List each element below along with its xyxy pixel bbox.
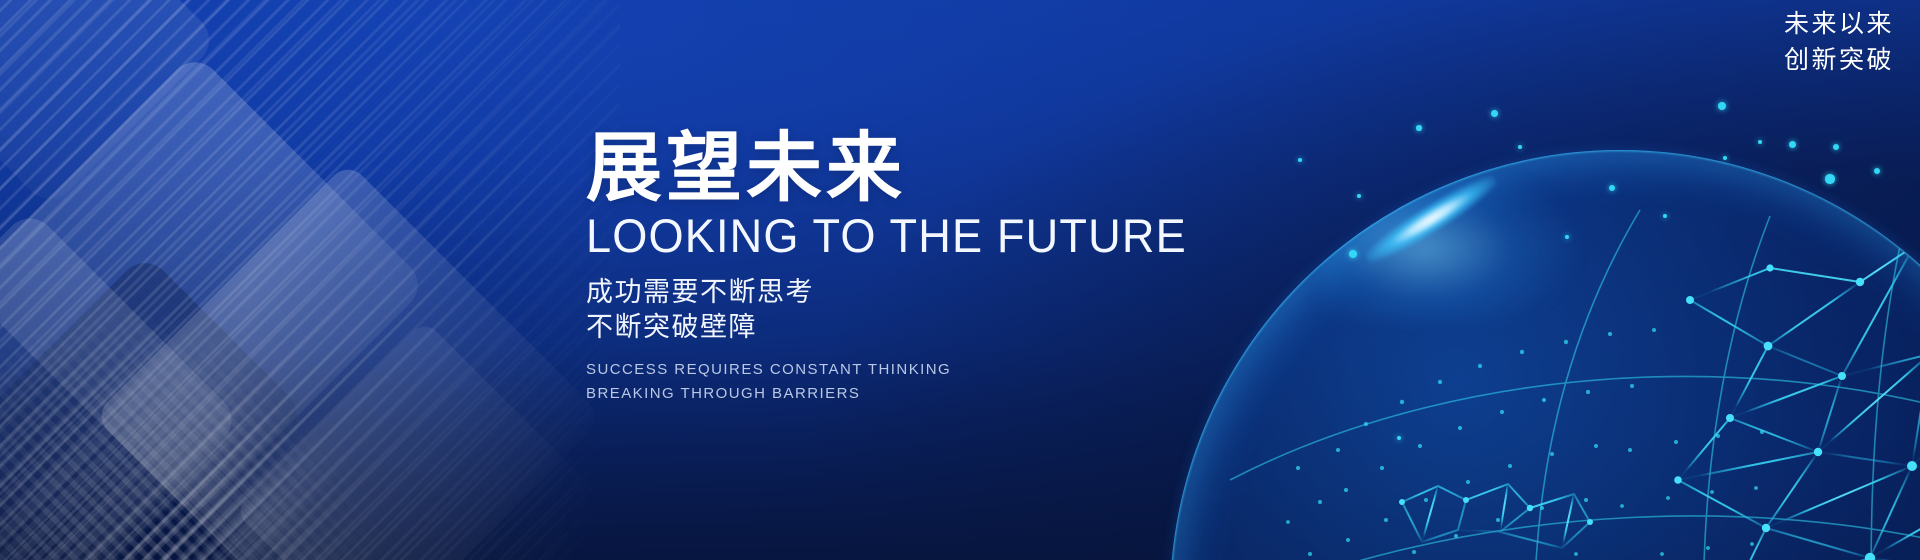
tagline-en-line-2: BREAKING THROUGH BARRIERS	[586, 385, 860, 402]
particle-dot	[1663, 214, 1667, 218]
page-subtitle-en: LOOKING TO THE FUTURE	[586, 211, 1200, 261]
tagline-en: SUCCESS REQUIRES CONSTANT THINKING BREAK…	[586, 358, 1226, 407]
left-pattern-fade-mask	[0, 0, 620, 560]
particle-dot	[1718, 102, 1726, 110]
particle-dot	[1416, 125, 1421, 130]
corner-mark-line-2: 创新突破	[1784, 42, 1894, 78]
particle-dot	[1758, 140, 1762, 144]
page-title: 展望未来	[586, 128, 1226, 207]
headline-block: 展望未来 LOOKING TO THE FUTURE 成功需要不断思考 不断突破…	[586, 128, 1226, 407]
tagline-en-line-1: SUCCESS REQUIRES CONSTANT THINKING	[586, 361, 951, 378]
corner-mark: 未来以来 创新突破	[1784, 6, 1894, 77]
particle-dot	[1874, 168, 1880, 174]
tagline-cn-line-2: 不断突破壁障	[586, 310, 1226, 346]
particle-dot	[1789, 141, 1796, 148]
banner-root: 展望未来 LOOKING TO THE FUTURE 成功需要不断思考 不断突破…	[0, 0, 1920, 560]
particle-dot	[1491, 110, 1498, 117]
tagline-cn-line-1: 成功需要不断思考	[586, 275, 1226, 311]
decor-hairline-stripes	[0, 0, 620, 560]
network-globe	[1170, 150, 1920, 560]
particle-dot	[1825, 174, 1834, 183]
particle-dot	[1518, 145, 1522, 149]
particle-dot	[1397, 436, 1401, 440]
corner-mark-line-1: 未来以来	[1784, 6, 1894, 42]
diagonal-geometric-pattern	[0, 0, 620, 560]
